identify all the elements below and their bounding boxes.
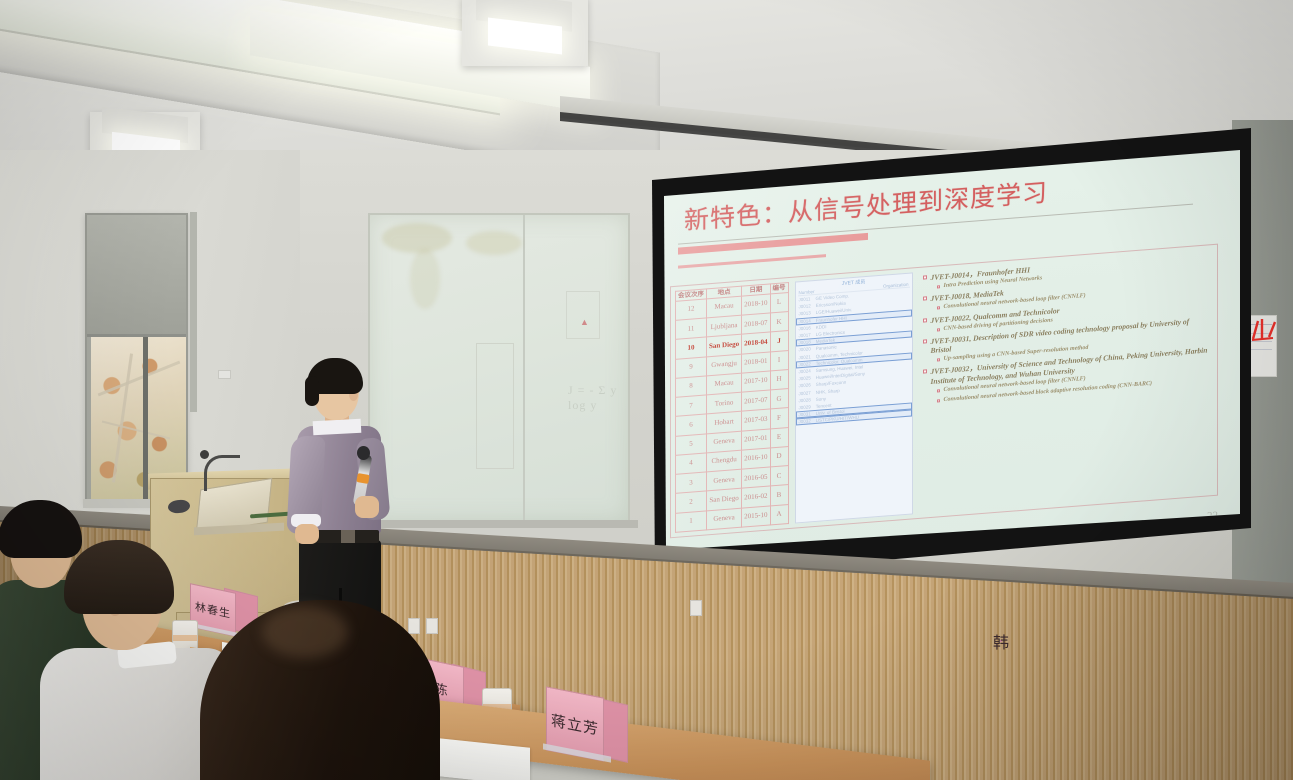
bullet-square-icon bbox=[937, 307, 940, 310]
bullet-square-icon bbox=[923, 339, 927, 343]
microphone-orange-band bbox=[356, 473, 369, 484]
whiteboard-tray bbox=[362, 520, 638, 528]
presenter-right-hand bbox=[355, 496, 379, 518]
cell-no: 12 bbox=[676, 299, 707, 321]
org-row-name: USTC/PKU/HIT/WHU bbox=[816, 415, 859, 423]
jvet-organization-table: JVET 成员 Number Organization J0011GE Vide… bbox=[795, 272, 913, 523]
projection-screen[interactable]: 新特色：从信号处理到深度学习 会议次序 地点 日期 编号 12Macau20 bbox=[648, 150, 1240, 550]
org-row-number: J0020 bbox=[799, 347, 811, 353]
nameplate-4-text: 韩 bbox=[1000, 640, 1002, 642]
org-row-number: J0031 bbox=[799, 411, 811, 417]
presenter-left-hand bbox=[295, 524, 319, 544]
org-row-number: J0017 bbox=[799, 332, 811, 338]
microphone-head-icon bbox=[200, 450, 209, 459]
org-row-number: J0011 bbox=[799, 296, 811, 302]
presentation-photo: J = - Σ y log y ▲ 新特色：从信号处理到深度学习 会议次序 地点… bbox=[0, 0, 1293, 780]
bullet-square-icon bbox=[937, 328, 940, 331]
org-row-number: J0026 bbox=[799, 383, 811, 389]
cell-code: K bbox=[770, 312, 788, 333]
cell-code: E bbox=[770, 427, 788, 448]
cell-place: Geneva bbox=[707, 508, 742, 530]
org-row-number: J0018 bbox=[799, 340, 811, 346]
org-row-number: J0027 bbox=[799, 390, 811, 396]
cell-code: L bbox=[770, 292, 788, 313]
cell-no: 5 bbox=[676, 434, 707, 456]
cell-date: 2018-04 bbox=[742, 332, 770, 353]
roller-blind[interactable] bbox=[87, 215, 186, 337]
whiteboard: J = - Σ y log y ▲ bbox=[368, 213, 630, 523]
cell-code: F bbox=[770, 408, 788, 429]
cell-date: 2017-01 bbox=[742, 429, 770, 450]
presenter-belt-buckle bbox=[341, 530, 355, 543]
bullet-square-icon bbox=[937, 399, 940, 402]
cell-date: 2018-10 bbox=[742, 294, 770, 315]
cell-no: 1 bbox=[676, 511, 707, 533]
cell-no: 6 bbox=[676, 414, 707, 436]
cell-code: J bbox=[770, 331, 788, 352]
audience-member-long-hair bbox=[200, 600, 440, 780]
slide-body: 会议次序 地点 日期 编号 12Macau2018-10L11Ljubljana… bbox=[670, 244, 1218, 539]
bullet-square-icon bbox=[937, 285, 940, 288]
cell-date: 2015-10 bbox=[742, 506, 770, 527]
cell-no: 2 bbox=[676, 491, 707, 513]
cell-code: A bbox=[770, 504, 788, 525]
audience-3-hair-highlight bbox=[262, 606, 348, 658]
org-row-number: J0016 bbox=[799, 325, 811, 331]
window bbox=[85, 213, 188, 503]
org-row-number: J0022 bbox=[799, 361, 811, 367]
cell-code: I bbox=[770, 350, 788, 371]
bullet-square-icon bbox=[923, 275, 927, 279]
microphone-capsule-icon bbox=[357, 446, 370, 460]
cell-code: H bbox=[770, 369, 788, 390]
cell-no: 10 bbox=[676, 337, 707, 359]
cell-code: C bbox=[770, 466, 788, 487]
bullet-square-icon bbox=[923, 297, 927, 301]
slide-content: 新特色：从信号处理到深度学习 会议次序 地点 日期 编号 12Macau20 bbox=[648, 150, 1240, 550]
cell-no: 3 bbox=[676, 472, 707, 494]
org-row-number: J0012 bbox=[799, 304, 811, 310]
presenter-hair-side bbox=[305, 376, 319, 406]
whiteboard-ghost-formula: J = - Σ y log y bbox=[568, 383, 628, 413]
cell-date: 2017-10 bbox=[742, 371, 770, 392]
cell-code: D bbox=[770, 447, 788, 468]
presenter-collar bbox=[313, 419, 362, 435]
cell-code: G bbox=[770, 389, 788, 410]
org-row-number: J0021 bbox=[799, 354, 811, 360]
cell-no: 4 bbox=[676, 453, 707, 475]
cell-date: 2016-05 bbox=[742, 467, 770, 488]
cell-code: B bbox=[770, 485, 788, 506]
cell-no: 8 bbox=[676, 376, 707, 398]
cell-date: 2017-07 bbox=[742, 390, 770, 411]
org-row-number: J0029 bbox=[799, 404, 811, 410]
org-row-number: J0014 bbox=[799, 318, 811, 324]
pendant-downlight-right bbox=[462, 0, 588, 66]
cell-no: 11 bbox=[676, 318, 707, 340]
org-row-number: J0032 bbox=[799, 419, 811, 425]
cell-date: 2018-07 bbox=[742, 313, 770, 334]
whiteboard-red-mark: ▲ bbox=[580, 317, 589, 326]
audience-2-hair bbox=[64, 540, 174, 614]
whiteboard-seam bbox=[523, 215, 525, 521]
bullet-square-icon bbox=[923, 318, 927, 322]
wall-outlet-far[interactable] bbox=[690, 600, 702, 616]
whiteboard-erased-rect bbox=[476, 343, 514, 469]
bullet-square-icon bbox=[923, 370, 927, 374]
jvet-meeting-table: 会议次序 地点 日期 编号 12Macau2018-10L11Ljubljana… bbox=[675, 282, 789, 533]
org-row-number: J0025 bbox=[799, 375, 811, 381]
title-accent-bar-2 bbox=[678, 254, 826, 269]
org-row-number: J0013 bbox=[799, 311, 811, 317]
org-row-number: J0028 bbox=[799, 397, 811, 403]
proposal-bullet-list: JVET-J0014，Fraunhofer HHIIntra Predictio… bbox=[919, 249, 1214, 514]
cell-no: 9 bbox=[676, 357, 707, 379]
gooseneck-microphone bbox=[204, 455, 240, 491]
cell-date: 2017-03 bbox=[742, 409, 770, 430]
bullet-square-icon bbox=[937, 389, 940, 392]
org-row-number: J0024 bbox=[799, 368, 811, 374]
cell-date: 2016-10 bbox=[742, 448, 770, 469]
cell-date: 2018-01 bbox=[742, 352, 770, 373]
window-side-rail bbox=[190, 212, 197, 412]
whiteboard-erased-rect-2 bbox=[566, 291, 600, 339]
wall-socket[interactable] bbox=[218, 370, 231, 379]
cell-date: 2016-02 bbox=[742, 486, 770, 507]
red-wall-marking-icon bbox=[1249, 315, 1279, 341]
bullet-square-icon bbox=[937, 359, 940, 362]
cell-no: 7 bbox=[676, 395, 707, 417]
org-row-name: Sony bbox=[816, 396, 826, 402]
nameplate-5: 蒋立芳 bbox=[546, 692, 632, 764]
org-row-name: KDDI bbox=[816, 324, 827, 330]
